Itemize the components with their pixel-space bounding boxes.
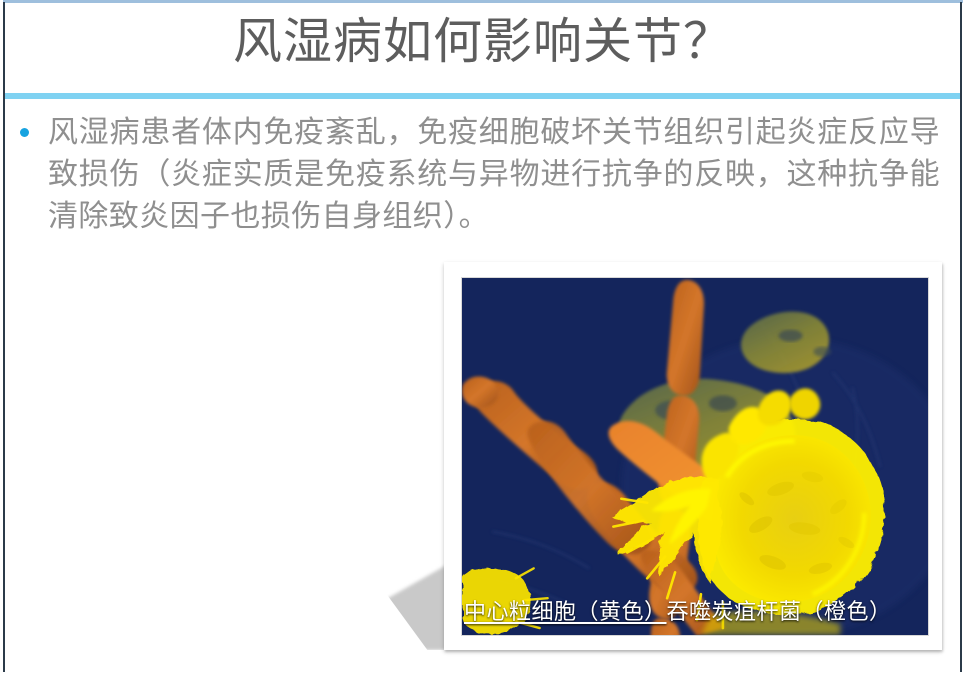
- bullet-dot-icon: [20, 128, 29, 137]
- micrograph-artwork: [462, 278, 928, 635]
- presentation-slide: 风湿病如何影响关节？ 风湿病患者体内免疫紊乱，免疫细胞破坏关节组织引起炎症反应导…: [0, 0, 966, 674]
- slide-right-border: [960, 2, 962, 672]
- slide-top-rule: [3, 0, 963, 3]
- title-divider: [5, 93, 960, 99]
- slide-title: 风湿病如何影响关节？: [0, 12, 966, 72]
- sem-micrograph-image: [462, 278, 928, 635]
- bullet-text: 风湿病患者体内免疫紊乱，免疫细胞破坏关节组织引起炎症反应导致损伤（炎症实质是免疫…: [48, 112, 940, 238]
- slide-left-border: [3, 2, 5, 672]
- picture-inner: 中心粒细胞（黄色）吞噬炭疽杆菌（橙色）: [461, 277, 929, 636]
- picture-frame[interactable]: 中心粒细胞（黄色）吞噬炭疽杆菌（橙色）: [444, 262, 942, 650]
- content-body: 风湿病患者体内免疫紊乱，免疫细胞破坏关节组织引起炎症反应导致损伤（炎症实质是免疫…: [10, 112, 940, 238]
- bullet-list-item: 风湿病患者体内免疫紊乱，免疫细胞破坏关节组织引起炎症反应导致损伤（炎症实质是免疫…: [10, 112, 940, 238]
- picture-caption-underlined: 中心粒细胞（黄色）: [464, 599, 667, 624]
- picture-caption-rest: 吞噬炭疽杆菌（橙色）: [667, 599, 892, 624]
- picture-caption: 中心粒细胞（黄色）吞噬炭疽杆菌（橙色）: [464, 599, 929, 625]
